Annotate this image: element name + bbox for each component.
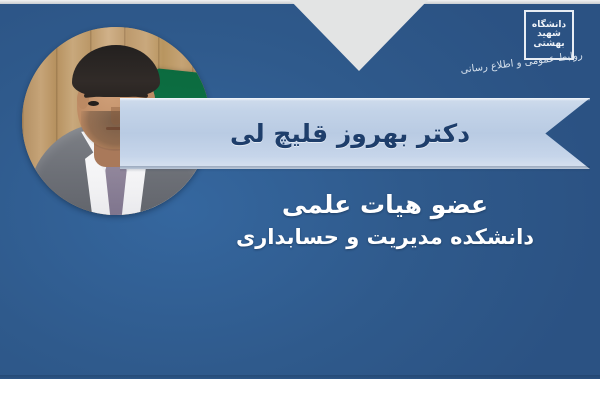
- person-name: دکتر بهروز قلیچ لی: [150, 100, 550, 167]
- person-faculty-name: دانشکده مدیریت و حسابداری: [200, 222, 570, 254]
- portrait-eye-left: [88, 101, 99, 106]
- bottom-white-margin: [0, 379, 600, 400]
- person-role-block: عضو هیات علمی دانشکده مدیریت و حسابداری: [200, 188, 570, 253]
- university-logo: دانشگاه شهید بهشتی روابط عمومی و اطلاع ر…: [480, 4, 588, 86]
- logo-line-3: بهشتی: [533, 40, 564, 49]
- logo-wordmark: دانشگاه شهید بهشتی: [530, 16, 568, 54]
- person-role-title: عضو هیات علمی: [200, 188, 570, 222]
- portrait-nose: [111, 107, 121, 125]
- logo-public-relations-script: روابط عمومی و اطلاع رسانی: [483, 50, 586, 90]
- faculty-profile-card: دکتر بهروز قلیچ لی عضو هیات علمی دانشکده…: [0, 0, 600, 400]
